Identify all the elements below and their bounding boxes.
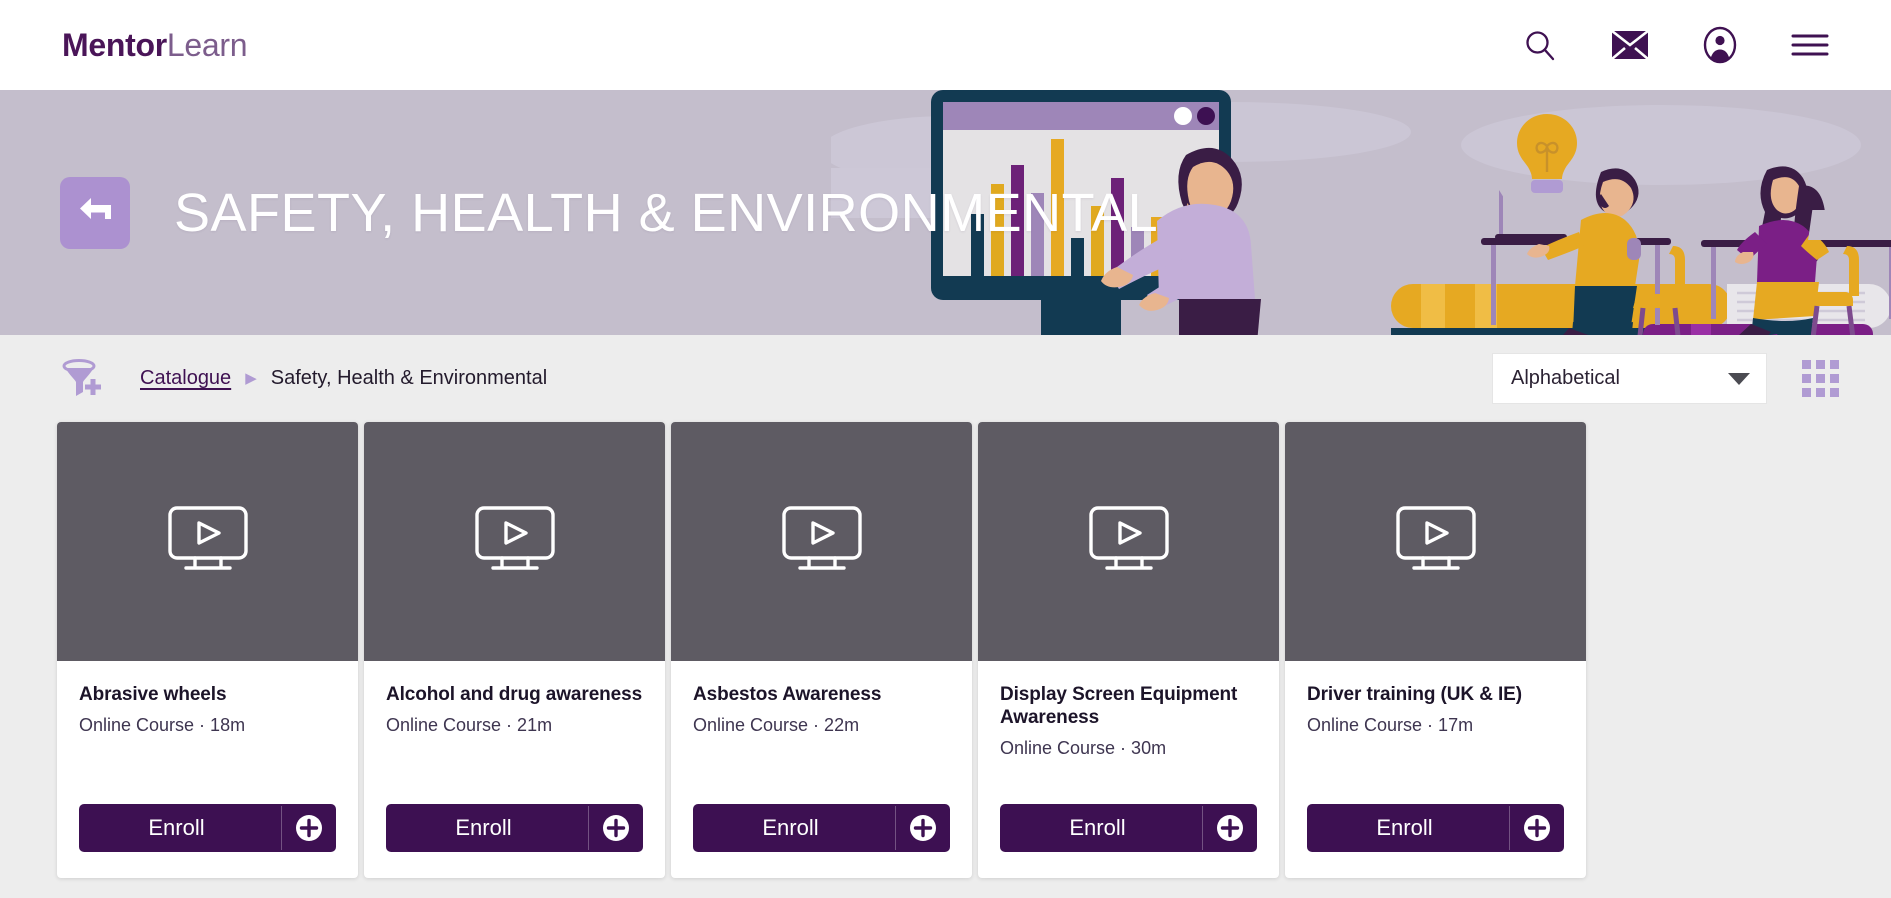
grid-cell [1816, 374, 1825, 383]
back-arrow-icon [78, 195, 112, 230]
grid-cell [1802, 388, 1811, 397]
course-thumbnail [978, 422, 1279, 661]
enroll-button[interactable]: Enroll [693, 804, 950, 852]
grid-cell [1816, 360, 1825, 369]
enroll-button[interactable]: Enroll [386, 804, 643, 852]
filter-funnel-plus-icon[interactable] [60, 356, 106, 402]
logo-light-text: Learn [167, 27, 247, 63]
breadcrumb-current: Safety, Health & Environmental [271, 367, 547, 390]
enroll-button-label: Enroll [1000, 815, 1203, 841]
course-card[interactable]: Alcohol and drug awareness Online Course… [364, 422, 665, 878]
account-icon[interactable] [1699, 24, 1741, 66]
enroll-button[interactable]: Enroll [1307, 804, 1564, 852]
course-card[interactable]: Driver training (UK & IE) Online Course … [1285, 422, 1586, 878]
grid-cell [1830, 374, 1839, 383]
plus-circle-icon[interactable] [1203, 815, 1257, 841]
grid-cell [1830, 388, 1839, 397]
course-meta: Online Course · 21m [386, 715, 643, 736]
hamburger-menu-icon[interactable] [1789, 24, 1831, 66]
logo[interactable]: MentorLearn [62, 27, 247, 64]
grid-cell [1802, 374, 1811, 383]
enroll-button[interactable]: Enroll [1000, 804, 1257, 852]
enroll-divider [895, 806, 896, 850]
chevron-down-icon [1728, 373, 1750, 385]
sort-dropdown-value: Alphabetical [1511, 367, 1620, 390]
grid-cell [1830, 360, 1839, 369]
course-card[interactable]: Display Screen Equipment Awareness Onlin… [978, 422, 1279, 878]
enroll-button-label: Enroll [79, 815, 282, 841]
enroll-button[interactable]: Enroll [79, 804, 336, 852]
course-meta: Online Course · 17m [1307, 715, 1564, 736]
plus-circle-icon[interactable] [1510, 815, 1564, 841]
search-icon[interactable] [1519, 24, 1561, 66]
course-card-body: Alcohol and drug awareness Online Course… [364, 661, 665, 878]
course-thumbnail [364, 422, 665, 661]
monitor-play-icon [475, 506, 555, 577]
course-meta: Online Course · 22m [693, 715, 950, 736]
breadcrumb: Catalogue ▶ Safety, Health & Environment… [140, 367, 547, 390]
monitor-play-icon [1089, 506, 1169, 577]
plus-circle-icon[interactable] [896, 815, 950, 841]
sort-dropdown[interactable]: Alphabetical [1493, 354, 1766, 403]
header-icon-group [1519, 24, 1831, 66]
plus-circle-icon[interactable] [589, 815, 643, 841]
course-card-body: Display Screen Equipment Awareness Onlin… [978, 661, 1279, 878]
course-card[interactable]: Asbestos Awareness Online Course · 22m E… [671, 422, 972, 878]
course-meta: Online Course · 30m [1000, 738, 1257, 759]
page-banner: SAFETY, HEALTH & ENVIRONMENTAL [0, 90, 1891, 335]
back-button[interactable] [60, 177, 130, 249]
grid-cell [1816, 388, 1825, 397]
course-card-body: Driver training (UK & IE) Online Course … [1285, 661, 1586, 878]
plus-circle-icon[interactable] [282, 815, 336, 841]
course-meta: Online Course · 18m [79, 715, 336, 736]
course-card-body: Asbestos Awareness Online Course · 22m E… [671, 661, 972, 878]
breadcrumb-separator-icon: ▶ [245, 371, 257, 386]
course-title: Driver training (UK & IE) [1307, 683, 1564, 706]
enroll-button-label: Enroll [693, 815, 896, 841]
toolbar-right-controls: Alphabetical [1493, 354, 1839, 403]
breadcrumb-link-catalogue[interactable]: Catalogue [140, 367, 231, 390]
monitor-play-icon [1396, 506, 1476, 577]
mail-icon[interactable] [1609, 24, 1651, 66]
catalogue-toolbar: Catalogue ▶ Safety, Health & Environment… [0, 335, 1891, 422]
monitor-play-icon [168, 506, 248, 577]
enroll-divider [1509, 806, 1510, 850]
monitor-play-icon [782, 506, 862, 577]
site-header: MentorLearn [0, 0, 1891, 90]
course-title: Abrasive wheels [79, 683, 336, 706]
course-card-body: Abrasive wheels Online Course · 18m Enro… [57, 661, 358, 878]
course-title: Display Screen Equipment Awareness [1000, 683, 1257, 729]
course-card[interactable]: Abrasive wheels Online Course · 18m Enro… [57, 422, 358, 878]
course-thumbnail [671, 422, 972, 661]
enroll-divider [281, 806, 282, 850]
course-title: Asbestos Awareness [693, 683, 950, 706]
course-thumbnail [57, 422, 358, 661]
grid-view-icon[interactable] [1802, 360, 1839, 397]
logo-bold-text: Mentor [62, 27, 167, 63]
grid-cell [1802, 360, 1811, 369]
banner-content: SAFETY, HEALTH & ENVIRONMENTAL [0, 90, 1891, 335]
enroll-button-label: Enroll [386, 815, 589, 841]
page-title: SAFETY, HEALTH & ENVIRONMENTAL [174, 182, 1158, 244]
enroll-divider [588, 806, 589, 850]
course-card-grid: Abrasive wheels Online Course · 18m Enro… [0, 422, 1891, 878]
course-title: Alcohol and drug awareness [386, 683, 643, 706]
course-thumbnail [1285, 422, 1586, 661]
enroll-button-label: Enroll [1307, 815, 1510, 841]
enroll-divider [1202, 806, 1203, 850]
